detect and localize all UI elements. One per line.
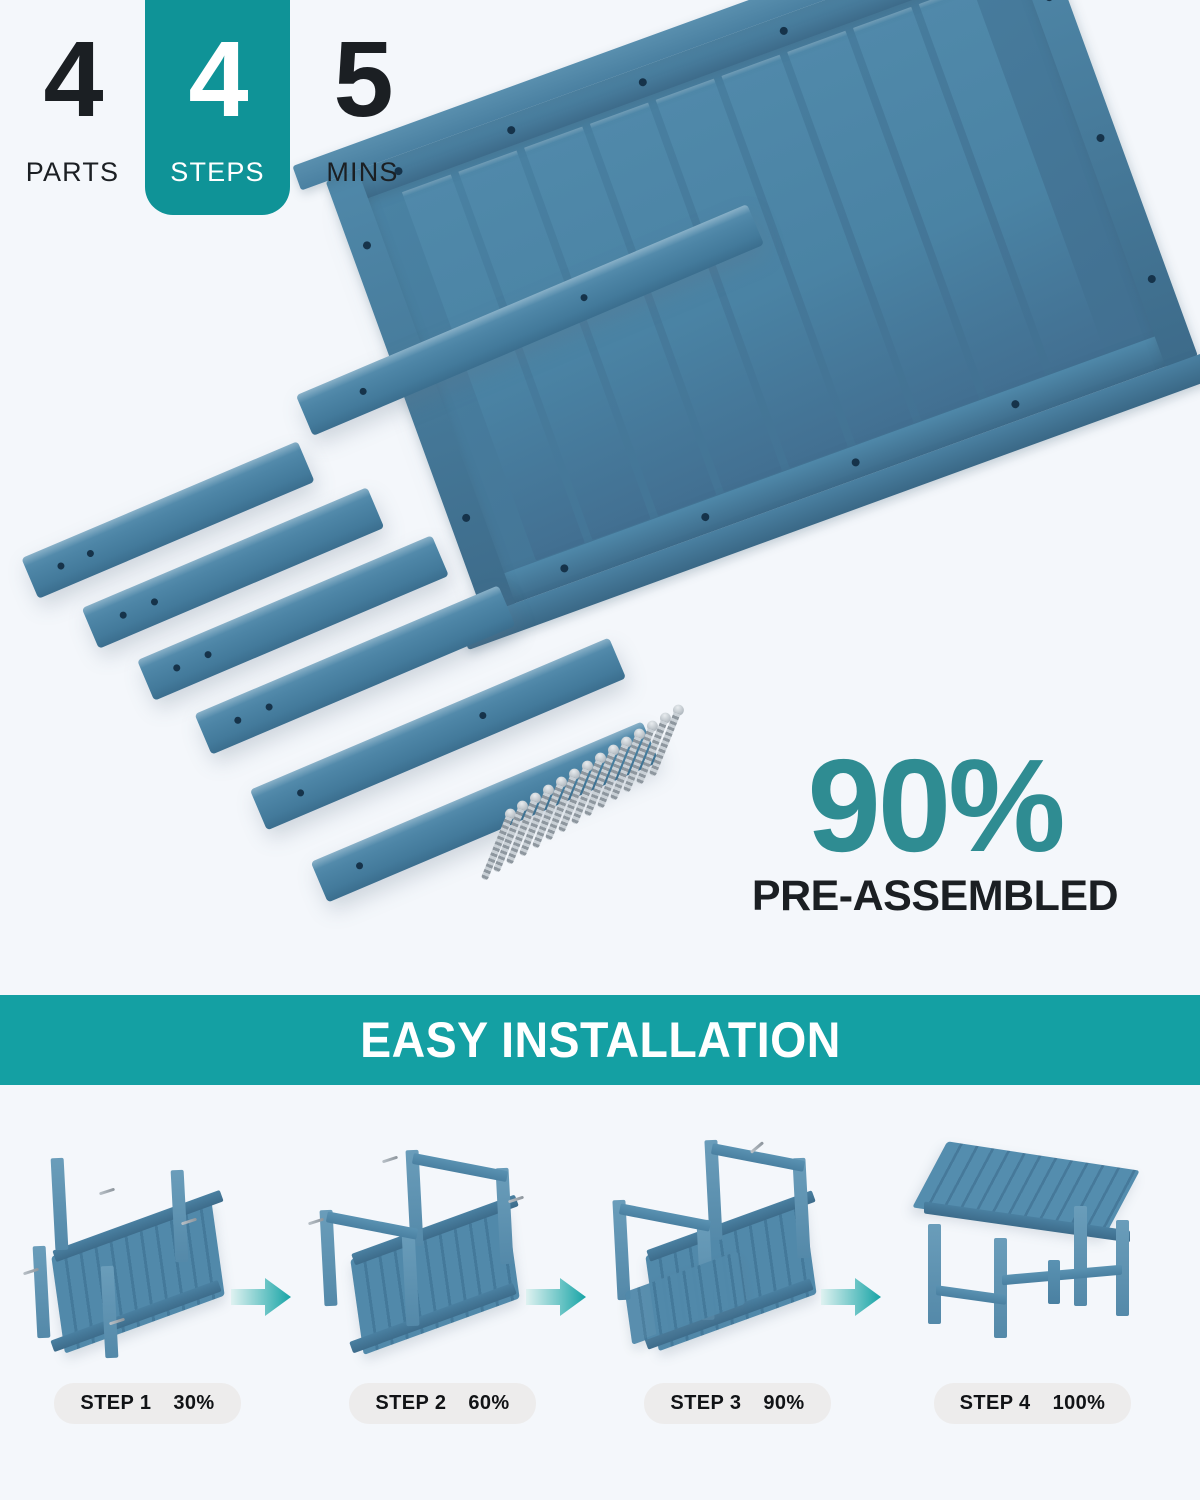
stat-mins-label: MINS	[326, 157, 398, 188]
step-1-pill: STEP 1 30%	[54, 1383, 240, 1424]
step-4-pill: STEP 4 100%	[934, 1383, 1132, 1424]
step-3: STEP 3 90%	[590, 1100, 885, 1500]
stat-parts: 4 PARTS	[0, 0, 145, 215]
step-1-label: STEP 1	[80, 1392, 151, 1415]
step-arrow-icon	[821, 1275, 883, 1319]
stat-mins: 5 MINS	[290, 0, 435, 215]
stat-mins-number: 5	[333, 28, 391, 131]
step-3-pill: STEP 3 90%	[644, 1383, 830, 1424]
step-3-percent: 90%	[763, 1392, 804, 1415]
step-4-label: STEP 4	[960, 1392, 1031, 1415]
step-4-illustration	[898, 1120, 1168, 1370]
stats-row: 4 PARTS 4 STEPS 5 MINS	[0, 0, 1200, 215]
pre-assembled-promo: 90% PRE-ASSEMBLED	[720, 745, 1150, 921]
step-2-illustration	[308, 1120, 578, 1370]
step-4-percent: 100%	[1053, 1392, 1106, 1415]
stat-steps-number: 4	[188, 28, 246, 131]
step-2-label: STEP 2	[375, 1392, 446, 1415]
stat-steps-label: STEPS	[170, 157, 265, 188]
stat-parts-number: 4	[43, 28, 101, 131]
banner-title: EASY INSTALLATION	[360, 1011, 841, 1069]
step-1-illustration	[13, 1120, 283, 1370]
step-1-percent: 30%	[173, 1392, 214, 1415]
step-3-illustration	[603, 1120, 873, 1370]
step-2: STEP 2 60%	[295, 1100, 590, 1500]
stat-parts-label: PARTS	[26, 157, 120, 188]
step-arrow-icon	[231, 1275, 293, 1319]
easy-installation-banner: EASY INSTALLATION	[0, 995, 1200, 1085]
pre-assembled-caption: PRE-ASSEMBLED	[720, 872, 1150, 921]
step-1: STEP 1 30%	[0, 1100, 295, 1500]
step-3-label: STEP 3	[670, 1392, 741, 1415]
screw-set	[505, 705, 705, 865]
stat-steps: 4 STEPS	[145, 0, 290, 215]
step-4: STEP 4 100%	[885, 1100, 1180, 1500]
step-arrow-icon	[526, 1275, 588, 1319]
pre-assembled-percent: 90%	[720, 745, 1150, 866]
step-2-pill: STEP 2 60%	[349, 1383, 535, 1424]
step-2-percent: 60%	[468, 1392, 509, 1415]
installation-steps: STEP 1 30%	[0, 1100, 1200, 1500]
